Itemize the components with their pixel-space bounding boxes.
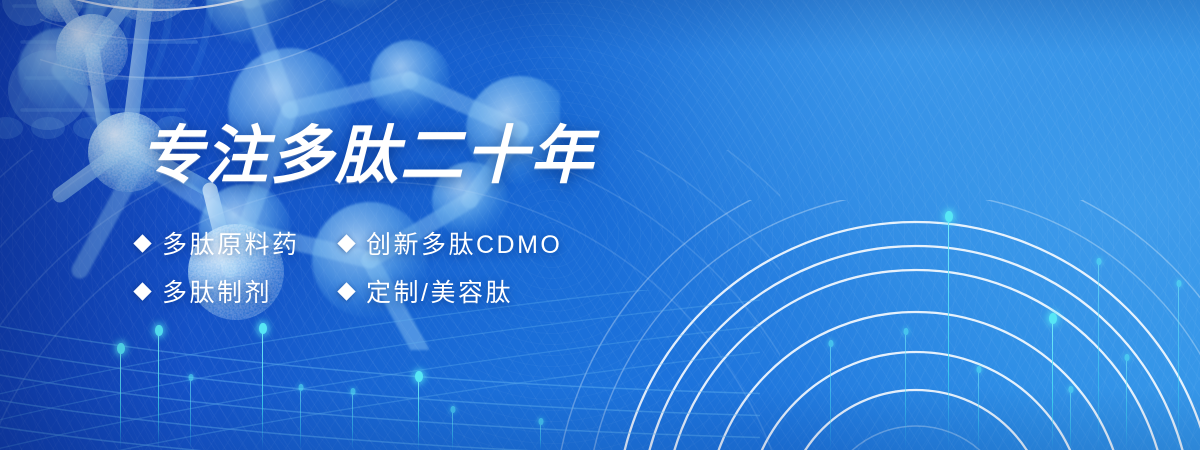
diamond-bullet-icon <box>133 234 151 252</box>
feature-label: 多肽原料药 <box>162 225 300 261</box>
feature-label: 创新多肽CDMO <box>366 225 562 261</box>
feature-label: 多肽制剂 <box>162 273 272 309</box>
feature-row: 多肽原料药 创新多肽CDMO <box>136 219 562 267</box>
feature-item-custom-cosmetic-peptide[interactable]: 定制/美容肽 <box>340 273 513 309</box>
feature-item-peptide-cdmo[interactable]: 创新多肽CDMO <box>340 225 562 261</box>
banner-headline: 专注多肽二十年 <box>140 123 595 189</box>
feature-item-peptide-formulation[interactable]: 多肽制剂 <box>136 273 340 309</box>
diamond-bullet-icon <box>337 282 355 300</box>
feature-row: 多肽制剂 定制/美容肽 <box>136 267 562 315</box>
diamond-bullet-icon <box>337 234 355 252</box>
peptide-hero-banner: 专注多肽二十年 多肽原料药 创新多肽CDMO 多肽制剂 <box>0 0 1200 450</box>
feature-item-peptide-api[interactable]: 多肽原料药 <box>136 225 340 261</box>
feature-list: 多肽原料药 创新多肽CDMO 多肽制剂 定制/美容肽 <box>136 219 562 315</box>
feature-label: 定制/美容肽 <box>366 273 513 309</box>
banner-content: 专注多肽二十年 多肽原料药 创新多肽CDMO 多肽制剂 <box>0 0 1200 450</box>
diamond-bullet-icon <box>133 282 151 300</box>
